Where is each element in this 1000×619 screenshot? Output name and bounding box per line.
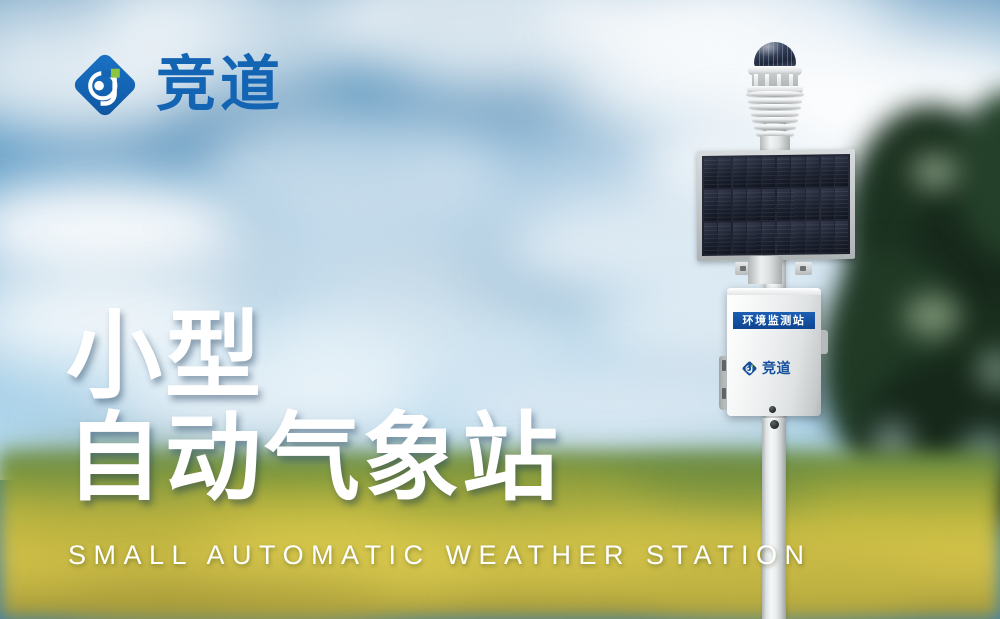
shield-louver	[752, 117, 797, 123]
dome-facet-line	[768, 42, 769, 68]
tree-light-gap	[912, 155, 958, 189]
environment-monitoring-enclosure: 环境监测站 竞道	[727, 288, 821, 416]
headline-line-2: 自动气象站	[66, 408, 561, 510]
solar-cell	[791, 156, 804, 188]
solar-cell	[762, 189, 775, 221]
radiation-shield	[746, 91, 804, 138]
headline-line-1: 小型	[66, 306, 561, 408]
solar-cell	[747, 190, 760, 222]
solar-cell	[718, 190, 731, 222]
shield-louver	[749, 104, 801, 110]
solar-cell	[806, 222, 819, 254]
enclosure-latch-lower	[722, 388, 726, 399]
solar-cell	[704, 190, 717, 222]
solar-cell	[718, 223, 731, 255]
solar-cell	[777, 189, 790, 221]
solar-cell	[718, 157, 731, 189]
dome-facet-line	[791, 42, 792, 68]
solar-cell	[791, 222, 804, 254]
solar-cell	[777, 222, 790, 254]
solar-cell	[806, 156, 819, 188]
support-mast-lower	[762, 418, 786, 619]
panel-mount-clamp	[748, 256, 782, 284]
dome-facet-line	[782, 42, 783, 68]
shield-louver	[751, 111, 799, 117]
enclosure-band-text: 环境监测站	[743, 315, 806, 326]
solar-cell	[762, 157, 775, 189]
enclosure-latch-upper	[722, 360, 726, 371]
solar-cell	[762, 222, 775, 254]
mast-bolt	[770, 420, 779, 429]
solar-cell	[704, 157, 717, 189]
jingdao-diamond-logo-icon	[68, 48, 142, 122]
solar-cell	[835, 155, 848, 187]
brand-name: 竞道	[156, 55, 284, 115]
shield-louver	[754, 124, 796, 130]
solar-cell	[733, 157, 746, 189]
enclosure-brand-logo: 竞道	[741, 360, 791, 377]
headline: 小型 自动气象站	[66, 306, 561, 510]
dome-facet-line	[777, 42, 778, 68]
dome-facet-line	[759, 42, 760, 68]
solar-cell	[747, 157, 760, 189]
field-patch	[620, 462, 820, 504]
jingdao-diamond-logo-icon	[741, 360, 758, 377]
dome-facet-line	[773, 42, 774, 68]
tree-light-gap	[905, 295, 960, 337]
solar-cell	[747, 222, 760, 254]
shield-louver	[746, 91, 804, 97]
dome-facet-line	[787, 42, 788, 68]
solar-cell-grid	[702, 154, 850, 256]
enclosure-top-lip	[727, 288, 821, 295]
solar-cell	[821, 221, 834, 253]
panel-bracket-right	[795, 262, 812, 275]
shield-louver	[748, 98, 803, 104]
brand-logo[interactable]: 竞道	[68, 48, 284, 122]
dome-facet-line	[763, 42, 764, 68]
solar-cell	[733, 223, 746, 255]
subtitle-english: SMALL AUTOMATIC WEATHER STATION	[68, 540, 812, 571]
enclosure-label-band: 环境监测站	[733, 312, 815, 329]
solar-cell	[733, 190, 746, 222]
solar-cell	[835, 188, 848, 220]
solar-panel	[697, 149, 855, 261]
solar-cell	[835, 221, 848, 253]
enclosure-screw	[769, 406, 776, 413]
product-banner: 竞道 小型 自动气象站 SMALL AUTOMATIC WEATHER STAT…	[0, 0, 1000, 619]
solar-cell	[821, 189, 834, 221]
solar-cell	[777, 156, 790, 188]
solar-cell	[791, 189, 804, 221]
solar-cell	[806, 189, 819, 221]
solar-cell	[704, 223, 717, 255]
enclosure-brand-text: 竞道	[762, 362, 791, 376]
solar-cell	[821, 156, 834, 188]
